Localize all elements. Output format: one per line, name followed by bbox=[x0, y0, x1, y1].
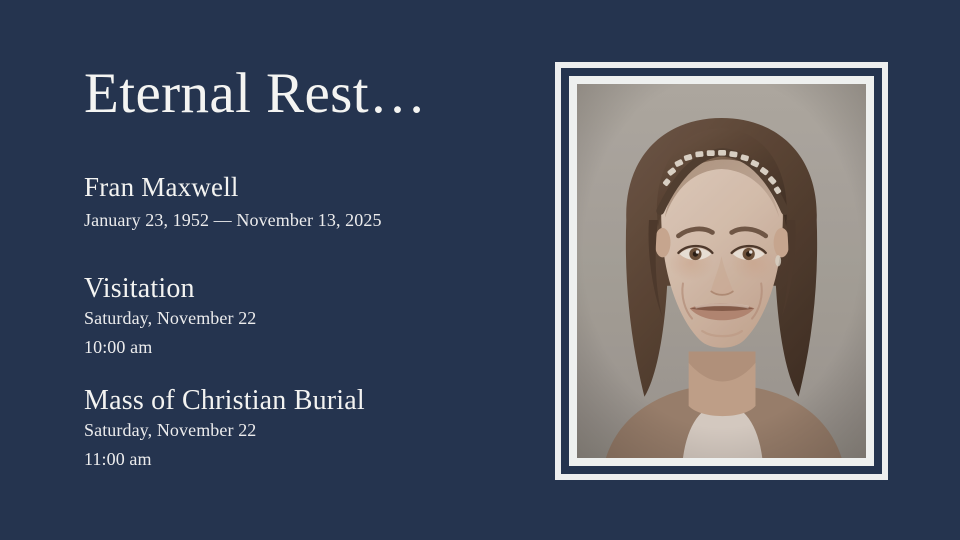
portrait-frame-inset bbox=[561, 68, 882, 474]
portrait-frame bbox=[555, 62, 888, 480]
service-block-visitation: Visitation Saturday, November 22 10:00 a… bbox=[84, 272, 514, 362]
memorial-slide: Eternal Rest… Fran Maxwell January 23, 1… bbox=[0, 0, 960, 540]
deceased-name: Fran Maxwell bbox=[84, 172, 514, 204]
portrait-mat bbox=[569, 76, 874, 466]
deceased-block: Fran Maxwell January 23, 1952 — November… bbox=[84, 172, 514, 234]
service-heading-mass: Mass of Christian Burial bbox=[84, 384, 514, 417]
service-time-mass: 11:00 am bbox=[84, 446, 514, 473]
service-date-mass: Saturday, November 22 bbox=[84, 417, 514, 444]
page-title: Eternal Rest… bbox=[84, 64, 426, 124]
memorial-text-column: Eternal Rest… Fran Maxwell January 23, 1… bbox=[84, 0, 514, 540]
service-heading-visitation: Visitation bbox=[84, 272, 514, 305]
portrait-photo bbox=[577, 84, 866, 458]
service-time-visitation: 10:00 am bbox=[84, 334, 514, 361]
service-block-mass: Mass of Christian Burial Saturday, Novem… bbox=[84, 384, 514, 474]
deceased-dates: January 23, 1952 — November 13, 2025 bbox=[84, 207, 514, 234]
portrait-illustration bbox=[577, 84, 866, 458]
service-date-visitation: Saturday, November 22 bbox=[84, 305, 514, 332]
